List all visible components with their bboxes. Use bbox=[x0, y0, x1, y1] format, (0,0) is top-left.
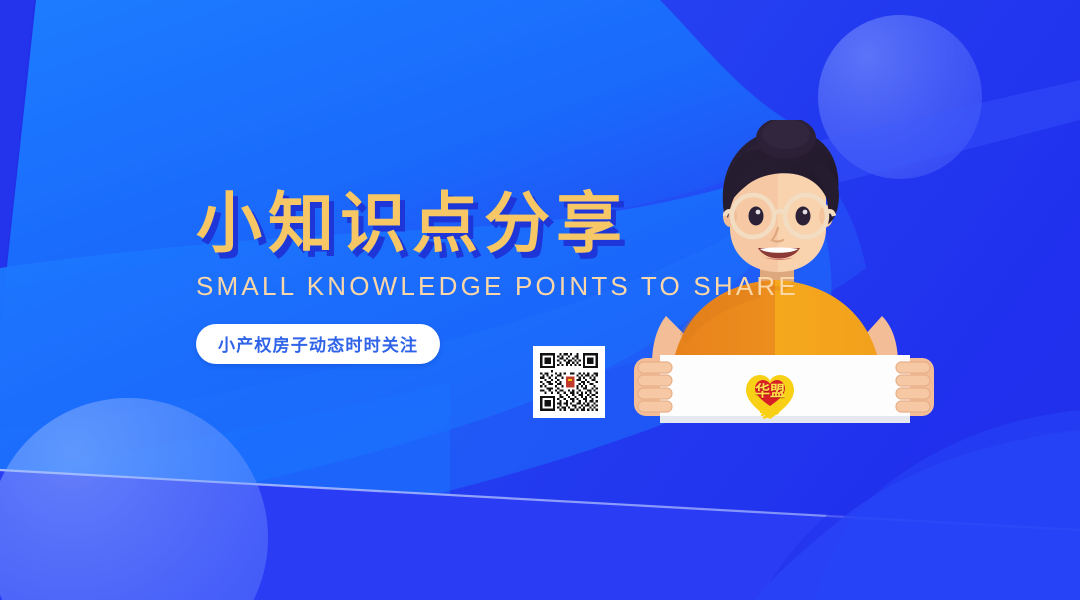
qr-code[interactable] bbox=[533, 346, 605, 418]
page-subtitle: SMALL KNOWLEDGE POINTS TO SHARE bbox=[196, 271, 666, 302]
heart-logo-icon bbox=[744, 372, 796, 422]
banner-canvas: 小知识点分享 SMALL KNOWLEDGE POINTS TO SHARE 小… bbox=[0, 0, 1080, 600]
page-title: 小知识点分享 bbox=[196, 190, 666, 257]
follow-pill-button[interactable]: 小产权房子动态时时关注 bbox=[196, 324, 440, 364]
qr-code-icon bbox=[538, 351, 600, 413]
copy-block: 小知识点分享 SMALL KNOWLEDGE POINTS TO SHARE 小… bbox=[196, 190, 666, 364]
heart-handshake-logo: 华盟 bbox=[744, 372, 796, 422]
